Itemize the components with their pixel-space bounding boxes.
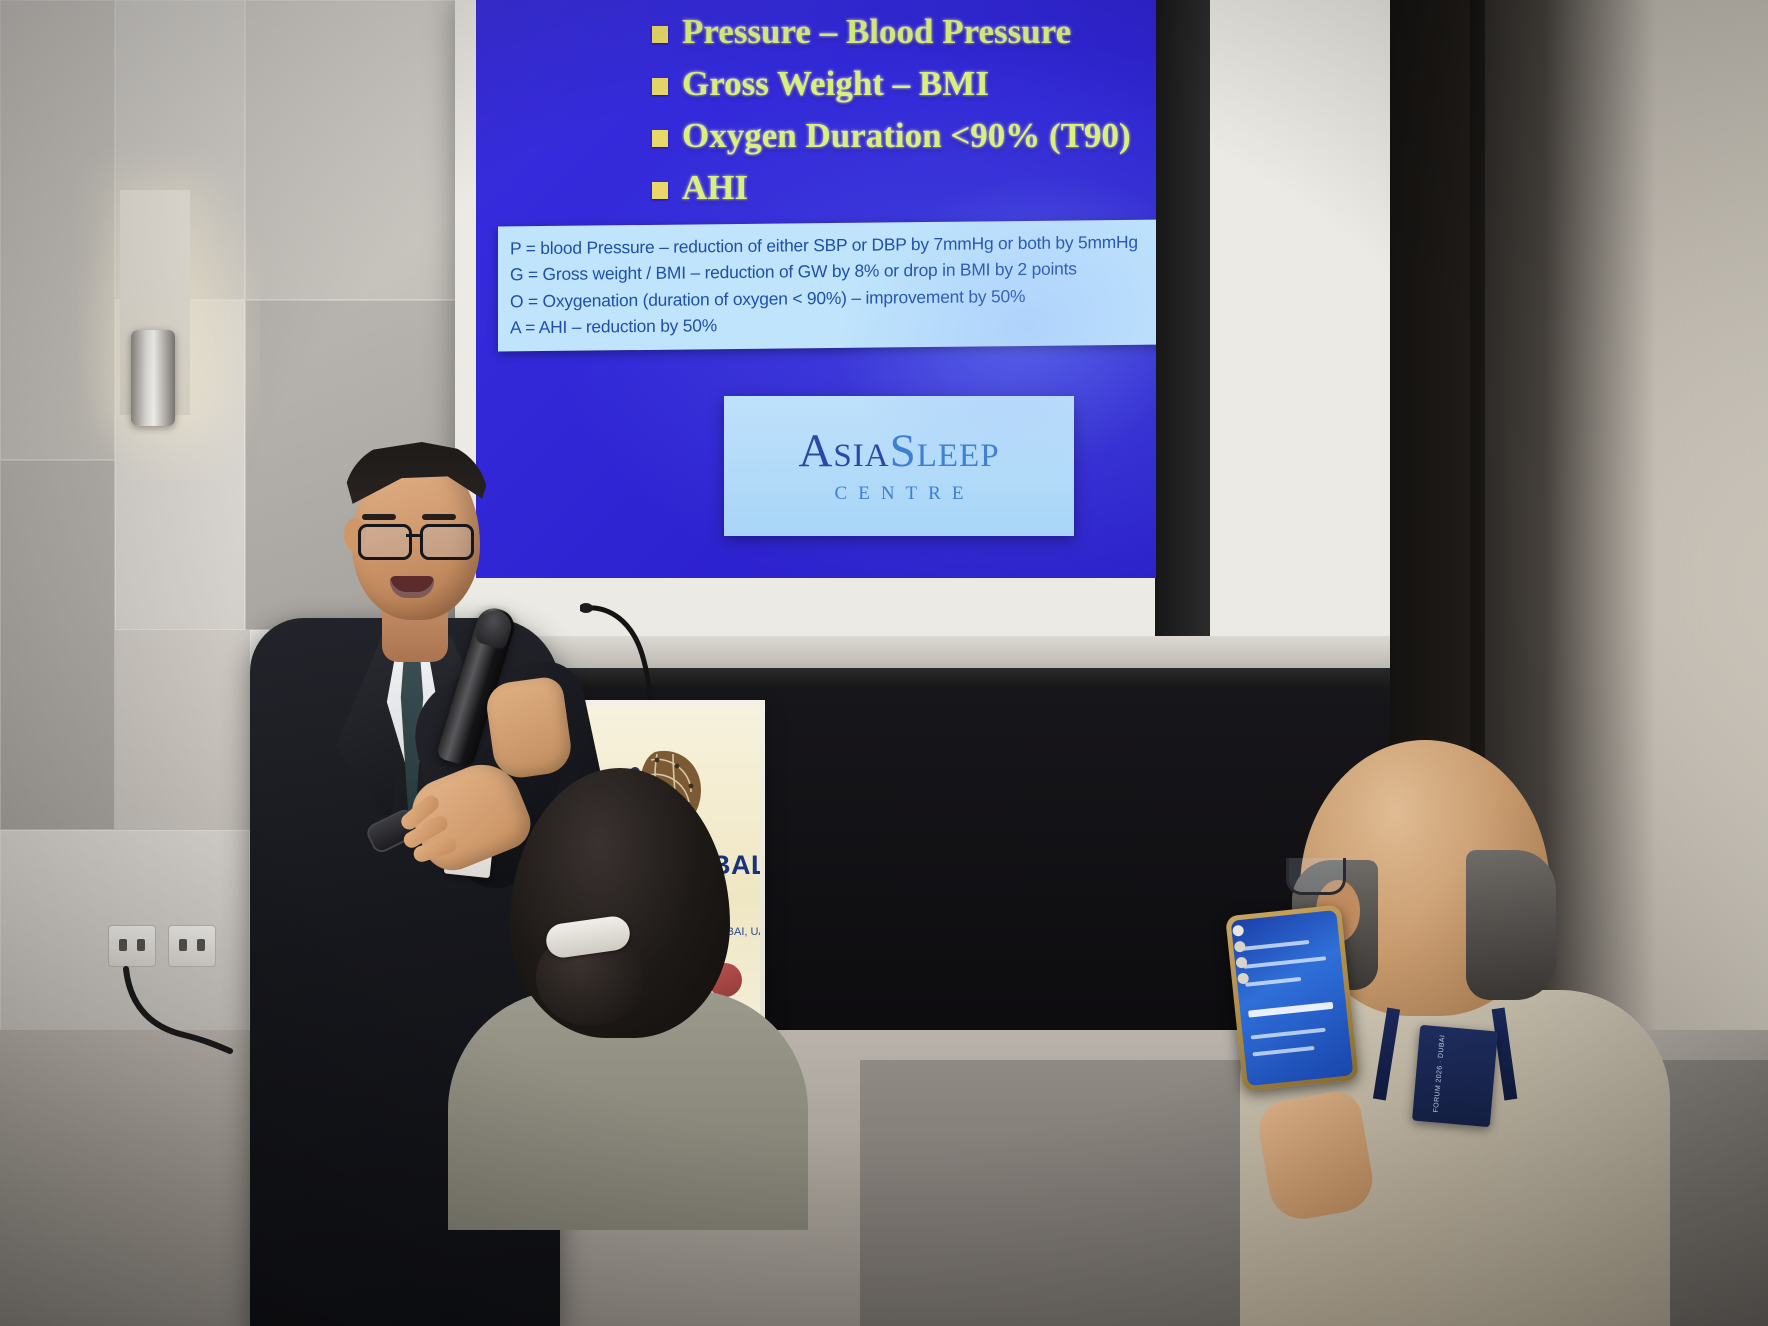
slide-bullet: Oxygen Duration <90% (T90) xyxy=(652,116,1156,156)
floor-cable xyxy=(120,965,240,1055)
logo-wordmark: ASIASLEEP xyxy=(798,428,999,475)
smartphone xyxy=(1225,904,1359,1091)
definition-line: P = blood Pressure – reduction of either… xyxy=(510,229,1155,262)
bullet-text: Oxygen Duration <90% (T90) xyxy=(682,116,1131,156)
lens-right xyxy=(420,524,474,560)
speaker-eyebrow xyxy=(362,514,396,520)
bullet-text: Pressure – Blood Pressure xyxy=(682,12,1071,52)
bullet-square-icon xyxy=(652,78,668,95)
audience-member-front xyxy=(400,768,860,1326)
speaker-eyebrow xyxy=(422,514,456,520)
logo-s: S xyxy=(890,425,917,477)
wall-panel xyxy=(245,0,460,300)
presentation-photo: Pressure – Blood Pressure Gross Weight –… xyxy=(0,0,1768,1326)
attendee-hair xyxy=(1466,850,1556,1000)
definition-line: A = AHI – reduction by 50% xyxy=(510,308,1155,341)
wall-socket xyxy=(108,925,156,967)
eyeglasses xyxy=(1286,858,1346,895)
slide-definition-box: P = blood Pressure – reduction of either… xyxy=(498,219,1156,351)
bullet-square-icon xyxy=(652,182,668,199)
bullet-square-icon xyxy=(652,130,668,147)
badge-text: FORUM 2026 · DUBAI xyxy=(1433,1034,1447,1112)
wall-sconce-light xyxy=(131,330,175,426)
speaker-hand-holding-mic xyxy=(484,675,575,781)
logo-leep: LEEP xyxy=(917,438,1000,474)
logo-subtitle: CENTRE xyxy=(824,483,975,505)
bullet-text: Gross Weight – BMI xyxy=(682,64,989,104)
logo-a: A xyxy=(798,425,833,477)
wall-socket xyxy=(168,925,216,967)
phone-screen xyxy=(1231,910,1354,1086)
eyeglasses xyxy=(358,524,482,556)
slide-bullet: AHI xyxy=(652,168,1156,208)
bullet-text: AHI xyxy=(682,168,748,208)
definition-line: G = Gross weight / BMI – reduction of GW… xyxy=(510,255,1155,288)
slide-bullet-list: Pressure – Blood Pressure Gross Weight –… xyxy=(652,12,1156,220)
screen-right-edge xyxy=(1155,0,1210,680)
audience-member-right: FORUM 2026 · DUBAI xyxy=(1230,740,1768,1326)
wall-panel xyxy=(0,460,115,830)
attendee-badge: FORUM 2026 · DUBAI xyxy=(1412,1025,1498,1127)
bullet-square-icon xyxy=(652,26,668,43)
slide-bullet: Pressure – Blood Pressure xyxy=(652,12,1156,52)
definition-line: O = Oxygenation (duration of oxygen < 90… xyxy=(510,282,1155,315)
lens-left xyxy=(358,524,412,560)
asiasleep-logo: ASIASLEEP CENTRE xyxy=(724,396,1074,536)
logo-sia: SIA xyxy=(833,438,889,474)
slide-bullet: Gross Weight – BMI xyxy=(652,64,1156,104)
wall-panel xyxy=(0,0,115,460)
